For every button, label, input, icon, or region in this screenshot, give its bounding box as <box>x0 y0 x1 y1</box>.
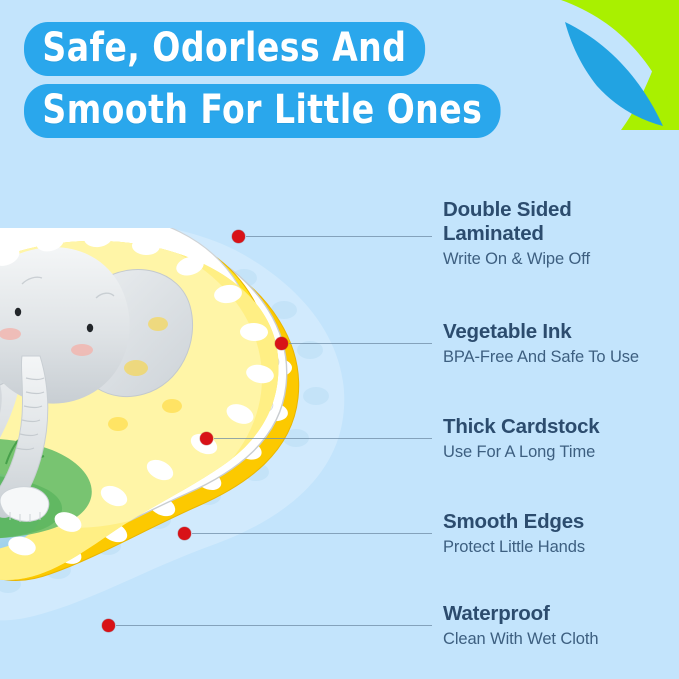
callout-thick-cardstock: Thick CardstockUse For A Long Time <box>443 415 600 463</box>
leader-line-double-sided-laminated <box>246 236 432 237</box>
callout-title-smooth-edges: Smooth Edges <box>443 510 585 534</box>
callout-title-vegetable-ink: Vegetable Ink <box>443 320 639 344</box>
callout-subtitle-smooth-edges: Protect Little Hands <box>443 537 585 558</box>
callout-title-waterproof: Waterproof <box>443 602 598 626</box>
callout-title2-double-sided-laminated: Laminated <box>443 222 590 246</box>
callout-title-thick-cardstock: Thick Cardstock <box>443 415 600 439</box>
marker-dot-waterproof[interactable] <box>102 619 115 632</box>
elephant-eye-left <box>15 308 21 316</box>
title-line-1: Safe, Odorless And <box>24 22 425 76</box>
leader-line-thick-cardstock <box>214 438 432 439</box>
callout-smooth-edges: Smooth EdgesProtect Little Hands <box>443 510 585 558</box>
callout-double-sided-laminated: Double SidedLaminatedWrite On & Wipe Off <box>443 198 590 270</box>
leader-line-waterproof <box>116 625 432 626</box>
marker-dot-double-sided-laminated[interactable] <box>232 230 245 243</box>
marker-dot-smooth-edges[interactable] <box>178 527 191 540</box>
leader-line-vegetable-ink <box>289 343 432 344</box>
callout-subtitle-double-sided-laminated: Write On & Wipe Off <box>443 249 590 270</box>
marker-dot-thick-cardstock[interactable] <box>200 432 213 445</box>
callout-title-double-sided-laminated: Double Sided <box>443 198 590 222</box>
infographic-canvas: Safe, Odorless And Smooth For Little One… <box>0 0 679 679</box>
callout-waterproof: WaterproofClean With Wet Cloth <box>443 602 598 650</box>
title-line-2: Smooth For Little Ones <box>24 84 501 138</box>
callout-vegetable-ink: Vegetable InkBPA-Free And Safe To Use <box>443 320 639 368</box>
marker-dot-vegetable-ink[interactable] <box>275 337 288 350</box>
elephant-blush-left <box>0 328 21 340</box>
elephant-blush-right <box>71 344 93 356</box>
callout-subtitle-waterproof: Clean With Wet Cloth <box>443 629 598 650</box>
callout-subtitle-vegetable-ink: BPA-Free And Safe To Use <box>443 347 639 368</box>
page-title: Safe, Odorless And Smooth For Little One… <box>24 22 584 138</box>
callout-subtitle-thick-cardstock: Use For A Long Time <box>443 442 600 463</box>
elephant-eye-right <box>87 324 93 332</box>
leader-line-smooth-edges <box>192 533 432 534</box>
